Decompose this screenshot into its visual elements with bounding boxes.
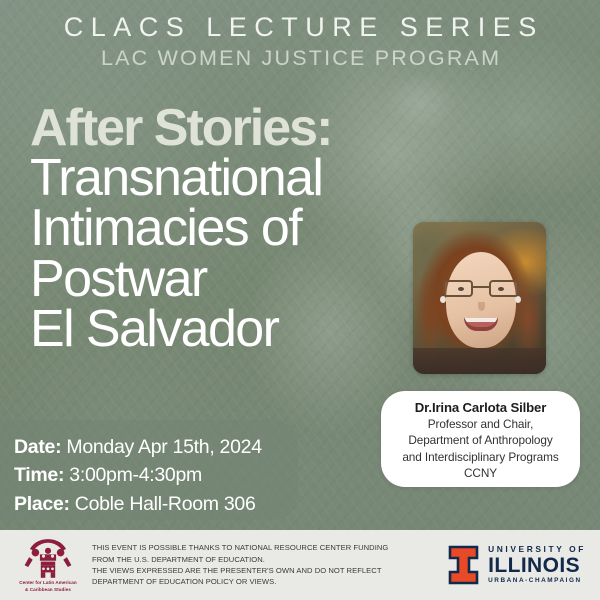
illinois-campus: URBANA-CHAMPAIGN: [488, 578, 586, 584]
event-date-row: Date: Monday Apr 15th, 2024: [14, 433, 298, 461]
portrait-earring-right: [515, 296, 521, 303]
clacs-caption-line-1: Center for Latin American: [19, 580, 77, 587]
disclaimer-line-2: FROM THE U.S. DEPARTMENT OF EDUCATION.: [92, 554, 448, 565]
event-poster: CLACS LECTURE SERIES LAC WOMEN JUSTICE P…: [0, 0, 600, 600]
place-label: Place:: [14, 493, 70, 515]
title-line-3: Intimacies of: [30, 203, 430, 253]
glasses-icon: [442, 280, 520, 297]
time-value: 3:00pm-4:30pm: [69, 464, 202, 486]
speaker-role-line-1: Professor and Chair,: [391, 417, 570, 432]
speaker-role-line-3: and Interdisciplinary Programs: [391, 450, 570, 465]
portrait-nose: [478, 302, 485, 311]
glasses-lens-right: [489, 280, 519, 297]
disclaimer-line-4: DEPARTMENT OF EDUCATION POLICY OR VIEWS.: [92, 576, 448, 587]
program-subtitle: LAC WOMEN JUSTICE PROGRAM: [0, 45, 600, 72]
date-label: Date:: [14, 436, 61, 458]
portrait-earring-left: [440, 296, 446, 303]
clacs-caption-line-2: & Caribbean Studies: [19, 587, 77, 594]
portrait-face: [446, 252, 516, 348]
disclaimer-line-1: THIS EVENT IS POSSIBLE THANKS TO NATIONA…: [92, 542, 448, 553]
date-value: Monday Apr 15th, 2024: [66, 436, 261, 458]
funding-disclaimer: THIS EVENT IS POSSIBLE THANKS TO NATIONA…: [92, 542, 448, 588]
series-title: CLACS LECTURE SERIES: [0, 12, 600, 44]
illinois-university-of: UNIVERSITY OF: [488, 545, 586, 553]
speaker-portrait: [413, 222, 546, 374]
illinois-wordmark: UNIVERSITY OF ILLINOIS URBANA-CHAMPAIGN: [488, 545, 586, 584]
event-place-row: Place: Coble Hall-Room 306: [14, 490, 298, 518]
speaker-info-card: Dr.Irina Carlota Silber Professor and Ch…: [381, 391, 580, 487]
speaker-affiliation: CCNY: [391, 466, 570, 481]
speaker-name: Dr.Irina Carlota Silber: [391, 400, 570, 416]
place-value: Coble Hall-Room 306: [75, 493, 256, 515]
time-label: Time:: [14, 464, 64, 486]
portrait-clothing: [413, 348, 546, 374]
event-time-row: Time: 3:00pm-4:30pm: [14, 461, 298, 489]
glasses-lens-left: [443, 280, 473, 297]
title-line-5: El Salvador: [30, 304, 430, 354]
glasses-bridge: [473, 286, 489, 288]
speaker-role-line-2: Department of Anthropology: [391, 433, 570, 448]
title-line-1: After Stories:: [30, 103, 430, 153]
university-of-illinois-logo: UNIVERSITY OF ILLINOIS URBANA-CHAMPAIGN: [448, 545, 586, 585]
clacs-figure-icon: [21, 537, 75, 579]
clacs-caption: Center for Latin American & Caribbean St…: [19, 580, 77, 593]
poster-footer: Center for Latin American & Caribbean St…: [0, 530, 600, 600]
illinois-name: ILLINOIS: [488, 555, 586, 576]
clacs-logo: Center for Latin American & Caribbean St…: [12, 534, 84, 596]
title-line-4: Postwar: [30, 254, 430, 304]
block-i-icon: [448, 545, 479, 585]
lecture-title: After Stories: Transnational Intimacies …: [30, 103, 430, 354]
disclaimer-line-3: THE VIEWS EXPRESSED ARE THE PRESENTER'S …: [92, 565, 448, 576]
event-details-panel: Date: Monday Apr 15th, 2024 Time: 3:00pm…: [0, 420, 298, 520]
title-line-2: Transnational: [30, 153, 430, 203]
poster-header: CLACS LECTURE SERIES LAC WOMEN JUSTICE P…: [0, 12, 600, 72]
